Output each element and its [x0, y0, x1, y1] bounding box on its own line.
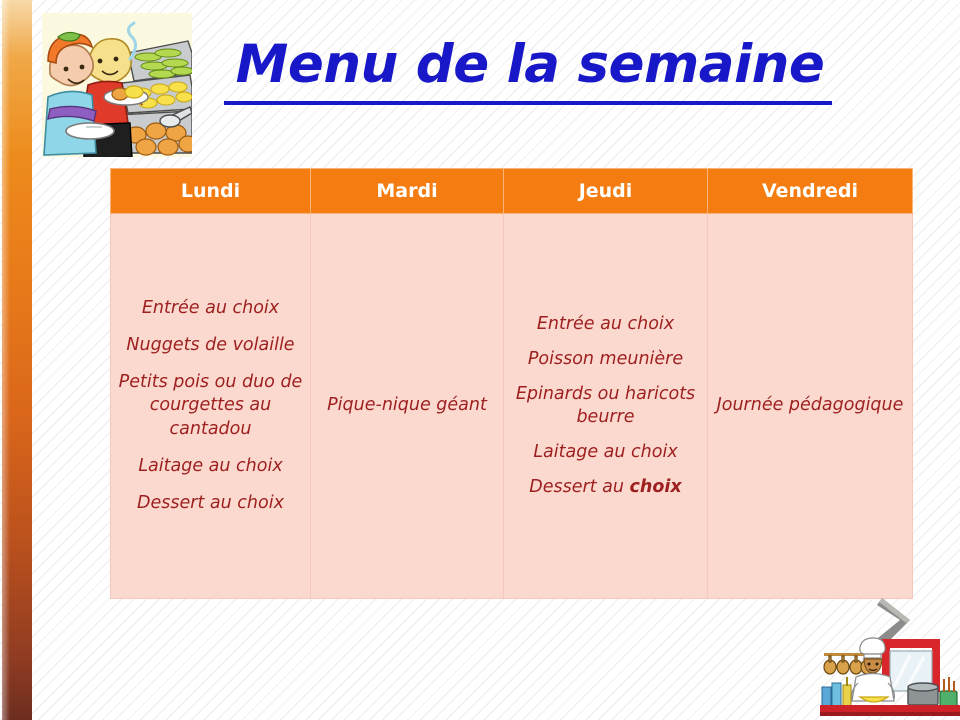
chef-kitchen-clipart-image — [820, 635, 960, 720]
menu-item: Journée pédagogique — [714, 394, 906, 417]
column-header-jeudi: Jeudi — [504, 169, 708, 214]
menu-item: Dessert au choix — [117, 492, 304, 515]
page-title: Menu de la semaine — [218, 36, 842, 93]
menu-cell-vendredi: Journée pédagogique — [708, 214, 913, 599]
column-header-lundi: Lundi — [111, 169, 311, 214]
menu-cell-lundi: Entrée au choix Nuggets de volaille Peti… — [111, 214, 311, 599]
menu-item: Laitage au choix — [510, 441, 701, 464]
menu-item: Pique-nique géant — [317, 394, 497, 417]
left-accent-bar — [2, 0, 32, 720]
menu-item: Nuggets de volaille — [117, 334, 304, 357]
title-underline — [224, 101, 832, 105]
menu-cell-jeudi: Entrée au choix Poisson meunière Epinard… — [504, 214, 708, 599]
menu-item-emphasized: Dessert au choix — [510, 476, 701, 499]
table-row: Entrée au choix Nuggets de volaille Peti… — [111, 214, 913, 599]
cafeteria-clipart-image — [42, 13, 192, 157]
menu-item-prefix: Dessert au — [529, 477, 629, 497]
menu-item: Epinards ou haricots beurre — [510, 383, 701, 429]
menu-cell-mardi: Pique-nique géant — [311, 214, 504, 599]
weekly-menu-table: Lundi Mardi Jeudi Vendredi Entrée au cho… — [110, 168, 913, 599]
slide-canvas: Menu de la semaine Lundi Mardi Jeudi Ven… — [0, 0, 960, 720]
menu-item: Entrée au choix — [117, 297, 304, 320]
column-header-mardi: Mardi — [311, 169, 504, 214]
menu-item: Entrée au choix — [510, 313, 701, 336]
menu-item: Laitage au choix — [117, 455, 304, 478]
menu-item-emphasis: choix — [630, 477, 682, 497]
table-header-row: Lundi Mardi Jeudi Vendredi — [111, 169, 913, 214]
column-header-vendredi: Vendredi — [708, 169, 913, 214]
menu-item: Petits pois ou duo de courgettes au cant… — [117, 371, 304, 440]
menu-item: Poisson meunière — [510, 348, 701, 371]
